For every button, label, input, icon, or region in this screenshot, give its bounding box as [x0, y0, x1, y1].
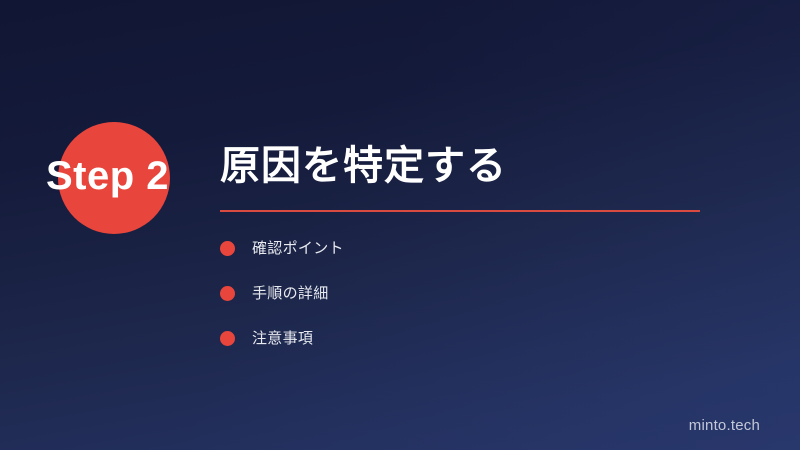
list-item: 手順の詳細 [220, 284, 344, 303]
title-block: 原因を特定する [220, 140, 702, 212]
list-item: 注意事項 [220, 329, 344, 348]
list-item-label: 確認ポイント [252, 239, 344, 258]
list-item: 確認ポイント [220, 239, 344, 258]
slide-title: 原因を特定する [220, 140, 702, 192]
bullet-dot-icon [220, 331, 235, 346]
footer-brand: minto.tech [689, 417, 760, 434]
bullet-dot-icon [220, 241, 235, 256]
title-divider-rule [220, 210, 700, 212]
presentation-slide: Step 2 原因を特定する 確認ポイント 手順の詳細 注意事項 minto.t… [0, 0, 800, 450]
bullet-list: 確認ポイント 手順の詳細 注意事項 [220, 239, 344, 348]
bullet-dot-icon [220, 286, 235, 301]
list-item-label: 注意事項 [252, 329, 313, 348]
step-badge-label: Step 2 [46, 154, 169, 198]
list-item-label: 手順の詳細 [252, 284, 329, 303]
